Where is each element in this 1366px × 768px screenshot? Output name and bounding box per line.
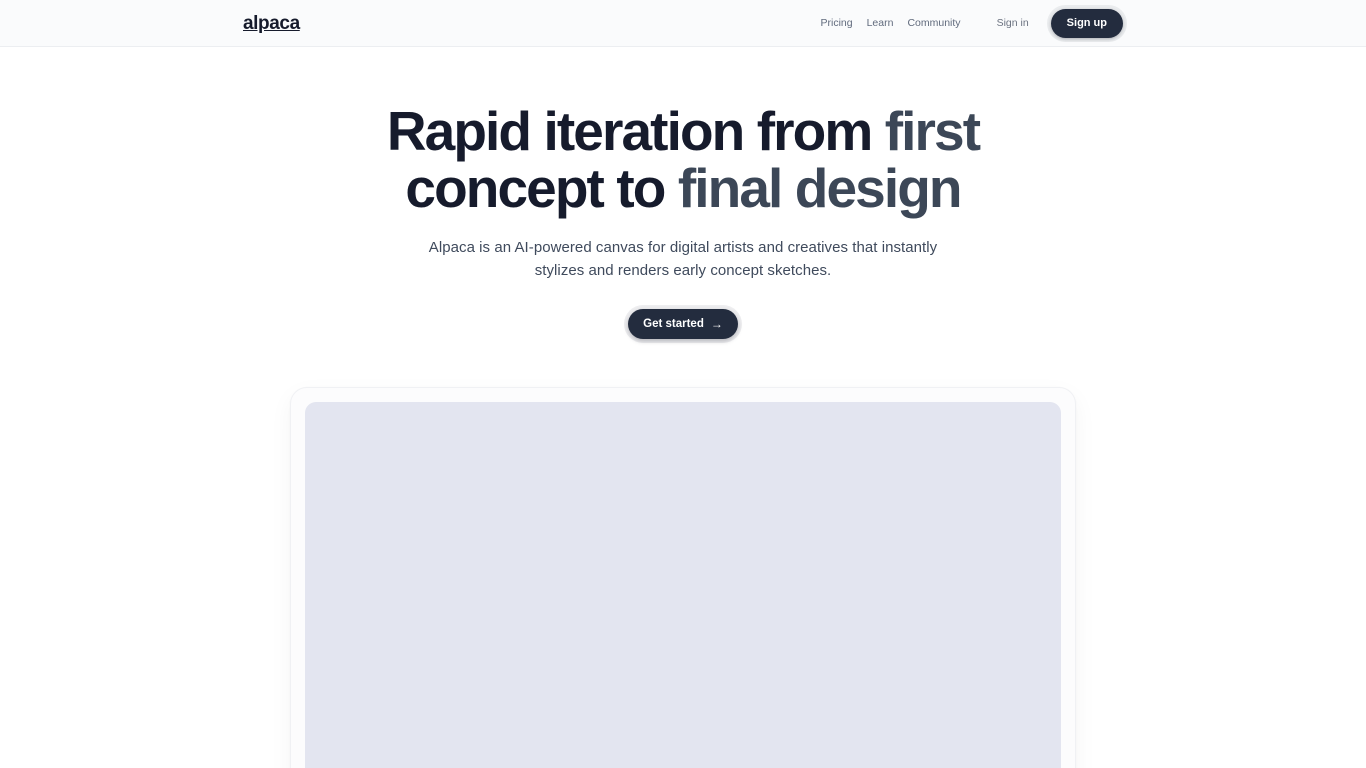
page-title: Rapid iteration from first concept to fi… [373, 103, 993, 217]
nav-link-pricing[interactable]: Pricing [820, 18, 852, 29]
brand-logo[interactable]: alpaca [243, 14, 300, 33]
get-started-label: Get started [643, 318, 704, 330]
hero-subtitle: Alpaca is an AI-powered canvas for digit… [413, 237, 953, 283]
nav-link-community[interactable]: Community [907, 18, 960, 29]
product-showcase-card [290, 387, 1076, 768]
header-inner: alpaca Pricing Learn Community Sign in S… [243, 0, 1123, 46]
sign-in-link[interactable]: Sign in [997, 18, 1029, 29]
arrow-right-icon: → [711, 318, 723, 330]
product-preview-media[interactable] [305, 402, 1061, 768]
nav-link-learn[interactable]: Learn [867, 18, 894, 29]
headline-line1-muted: first [885, 100, 979, 162]
get-started-button[interactable]: Get started → [628, 309, 738, 339]
sign-up-button[interactable]: Sign up [1051, 9, 1123, 38]
site-header: alpaca Pricing Learn Community Sign in S… [0, 0, 1366, 47]
headline-line2-strong: concept to [405, 157, 677, 219]
header-right-group: Pricing Learn Community Sign in Sign up [820, 9, 1123, 38]
primary-nav: Pricing Learn Community [820, 18, 960, 29]
hero-section: Rapid iteration from first concept to fi… [0, 47, 1366, 768]
headline-line1-strong: Rapid iteration from [387, 100, 885, 162]
cta-wrapper: Get started → [0, 309, 1366, 339]
headline-line2-muted: final design [678, 157, 961, 219]
